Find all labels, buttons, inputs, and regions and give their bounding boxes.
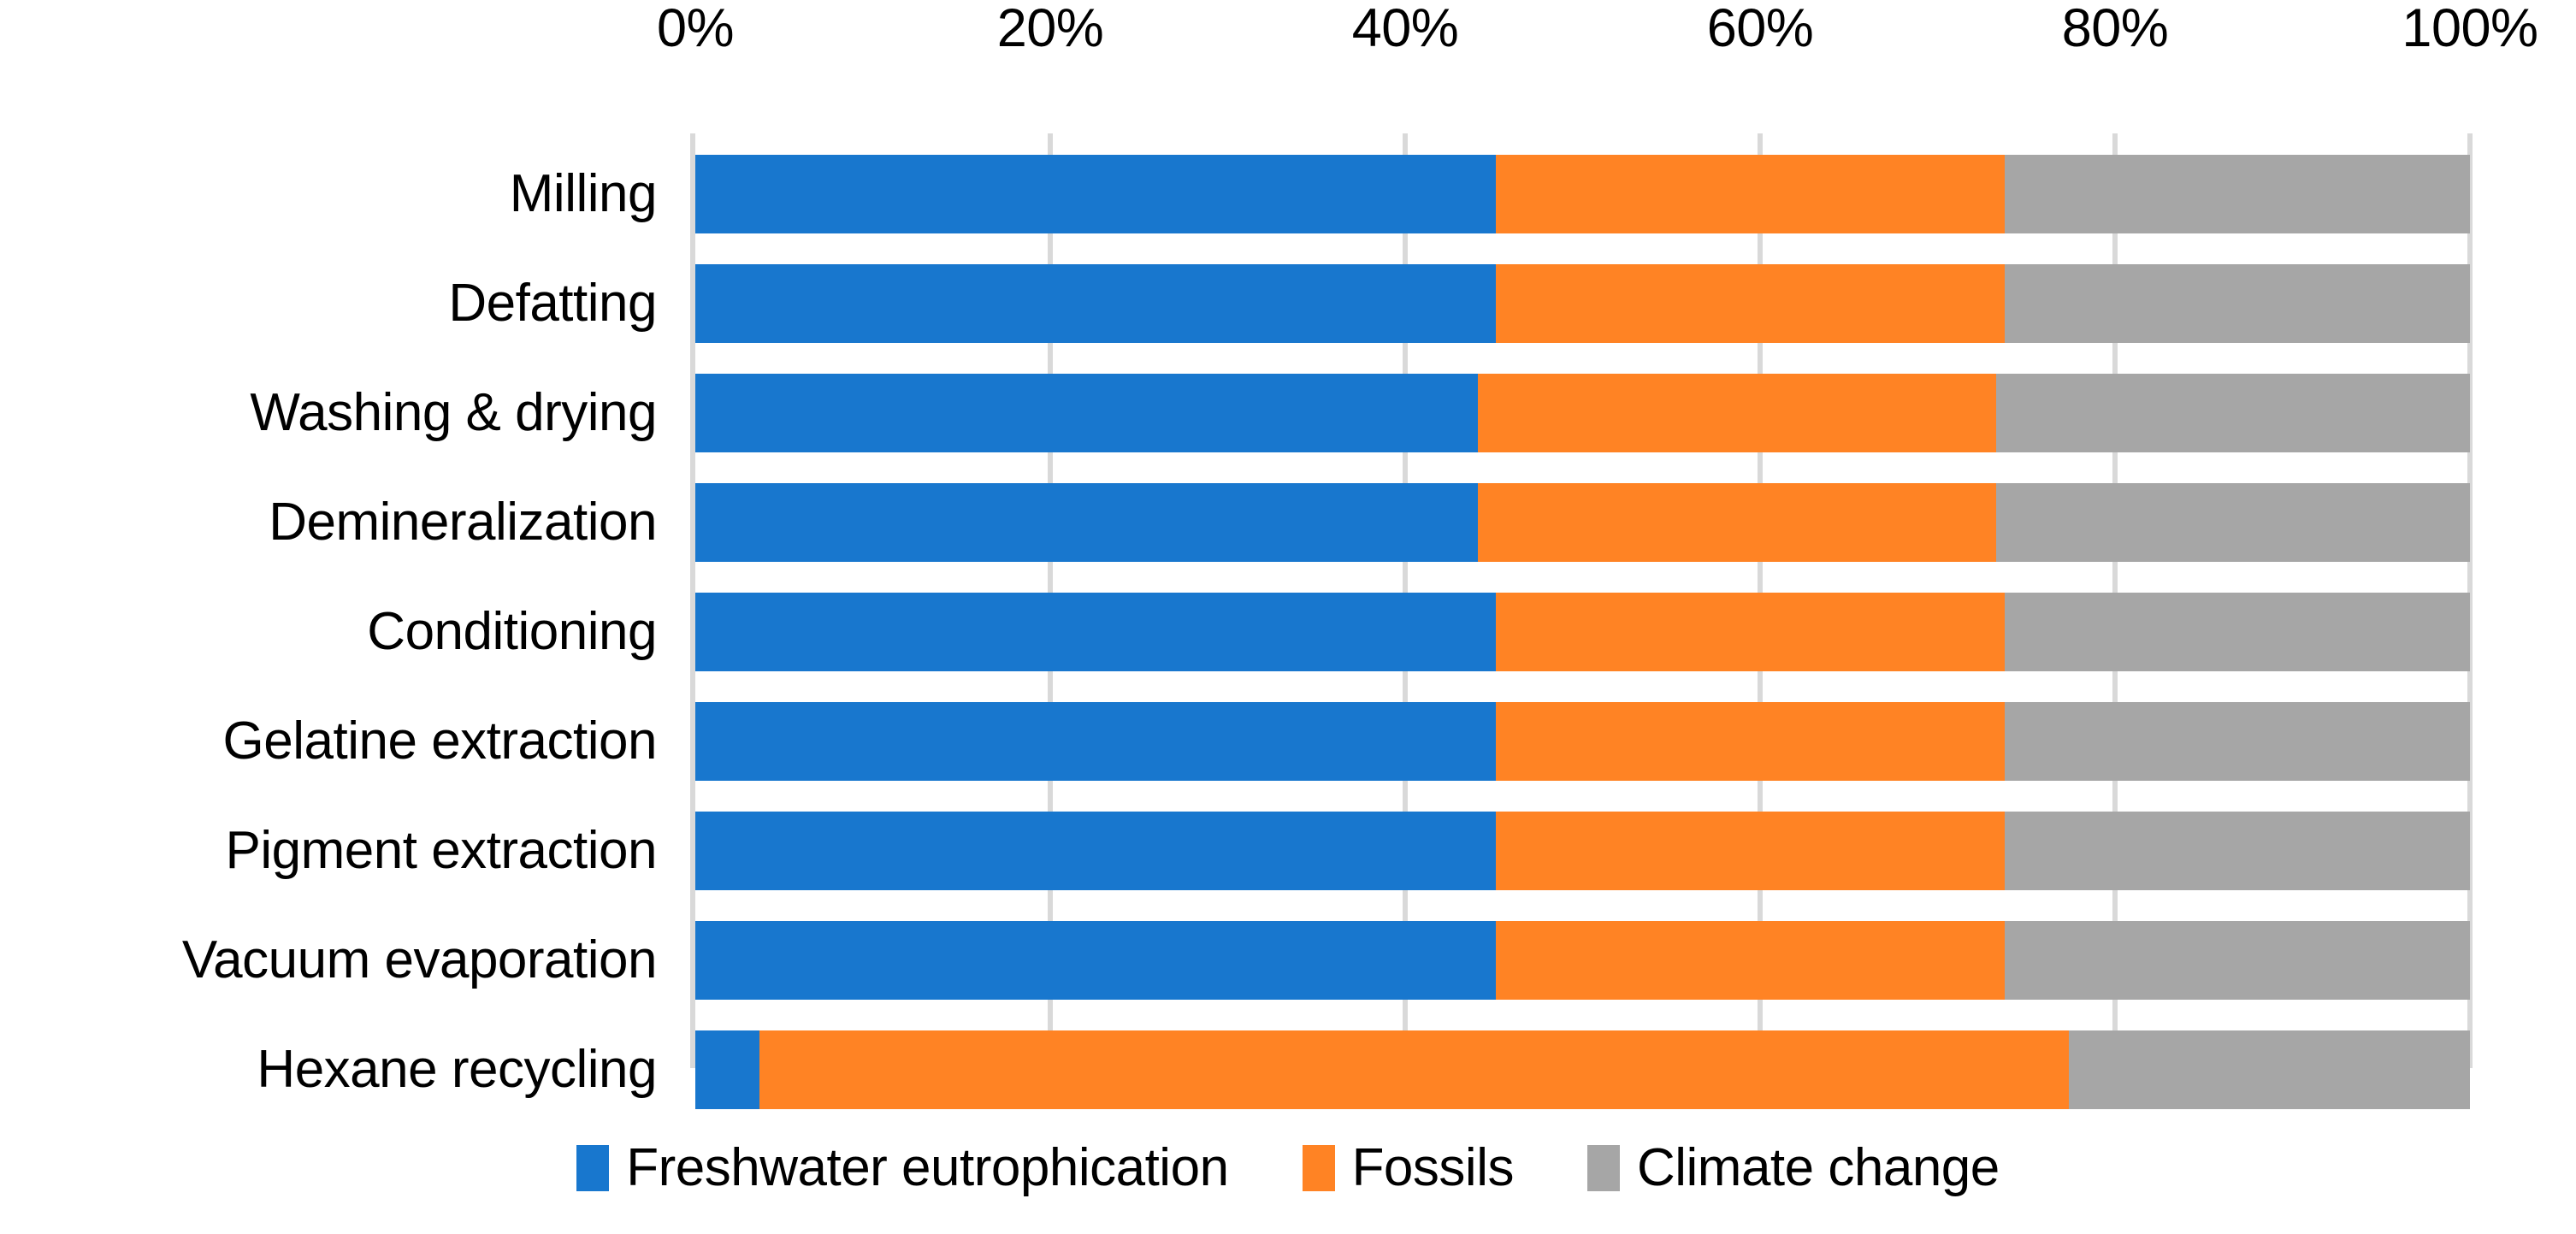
legend-label: Climate change	[1637, 1142, 2000, 1195]
x-tick-label: 20%	[997, 2, 1104, 56]
bar-segment	[1496, 812, 2006, 890]
bar-segment	[2005, 593, 2470, 671]
bar-segment	[1996, 374, 2470, 452]
bar-row	[695, 374, 2470, 452]
bar-segment	[2005, 702, 2470, 781]
bar-segment	[2005, 264, 2470, 343]
bar-segment	[695, 921, 1496, 1000]
y-axis: MillingDefattingWashing & dryingDeminera…	[0, 155, 676, 1068]
legend-item[interactable]: Freshwater eutrophication	[576, 1142, 1228, 1195]
bar-segment	[1496, 264, 2006, 343]
bar-segment	[1478, 374, 1996, 452]
bar-segment	[695, 264, 1496, 343]
bar-segment	[1496, 921, 2006, 1000]
legend-label: Fossils	[1352, 1142, 1514, 1195]
bar-segment	[2005, 921, 2470, 1000]
bar-row	[695, 155, 2470, 233]
bar-row	[695, 483, 2470, 562]
bar-segment	[695, 1030, 759, 1109]
y-category-label: Conditioning	[367, 593, 657, 671]
bar-segment	[695, 155, 1496, 233]
legend-item[interactable]: Climate change	[1587, 1142, 2000, 1195]
y-category-label: Defatting	[448, 264, 657, 343]
legend-swatch-icon	[1303, 1145, 1335, 1191]
bar-segment	[1996, 483, 2470, 562]
y-category-label: Hexane recycling	[257, 1030, 657, 1109]
bar-segment	[1496, 155, 2006, 233]
plot-area	[695, 155, 2470, 1068]
bar-row	[695, 264, 2470, 343]
bar-segment	[1496, 593, 2006, 671]
stacked-bar-chart: 0%20%40%60%80%100% MillingDefattingWashi…	[0, 0, 2576, 1234]
bar-segment	[2005, 155, 2470, 233]
x-tick-label: 0%	[657, 2, 734, 56]
bar-segment	[695, 702, 1496, 781]
bar-segment	[2005, 812, 2470, 890]
x-tick-label: 80%	[2062, 2, 2169, 56]
bar-row	[695, 702, 2470, 781]
y-category-label: Demineralization	[269, 483, 657, 562]
bar-segment	[759, 1030, 2069, 1109]
bar-segment	[695, 374, 1478, 452]
y-category-label: Washing & drying	[250, 374, 657, 452]
x-tick-label: 100%	[2402, 2, 2538, 56]
bar-segment	[1478, 483, 1996, 562]
bar-segment	[695, 483, 1478, 562]
y-category-label: Vacuum evaporation	[182, 921, 657, 1000]
chart-legend: Freshwater eutrophicationFossilsClimate …	[0, 1125, 2576, 1211]
bar-row	[695, 593, 2470, 671]
bar-row	[695, 1030, 2470, 1109]
y-category-label: Milling	[510, 155, 657, 233]
bar-segment	[695, 812, 1496, 890]
bar-segment	[695, 593, 1496, 671]
y-category-label: Pigment extraction	[226, 812, 657, 890]
bar-row	[695, 812, 2470, 890]
x-axis: 0%20%40%60%80%100%	[0, 0, 2576, 86]
bar-segment	[2069, 1030, 2470, 1109]
bar-rows	[695, 155, 2470, 1068]
legend-item[interactable]: Fossils	[1303, 1142, 1514, 1195]
legend-swatch-icon	[1587, 1145, 1620, 1191]
bar-segment	[1496, 702, 2006, 781]
legend-swatch-icon	[576, 1145, 609, 1191]
bar-row	[695, 921, 2470, 1000]
y-category-label: Gelatine extraction	[223, 702, 657, 781]
legend-label: Freshwater eutrophication	[626, 1142, 1228, 1195]
x-tick-label: 60%	[1707, 2, 1814, 56]
x-tick-label: 40%	[1352, 2, 1459, 56]
